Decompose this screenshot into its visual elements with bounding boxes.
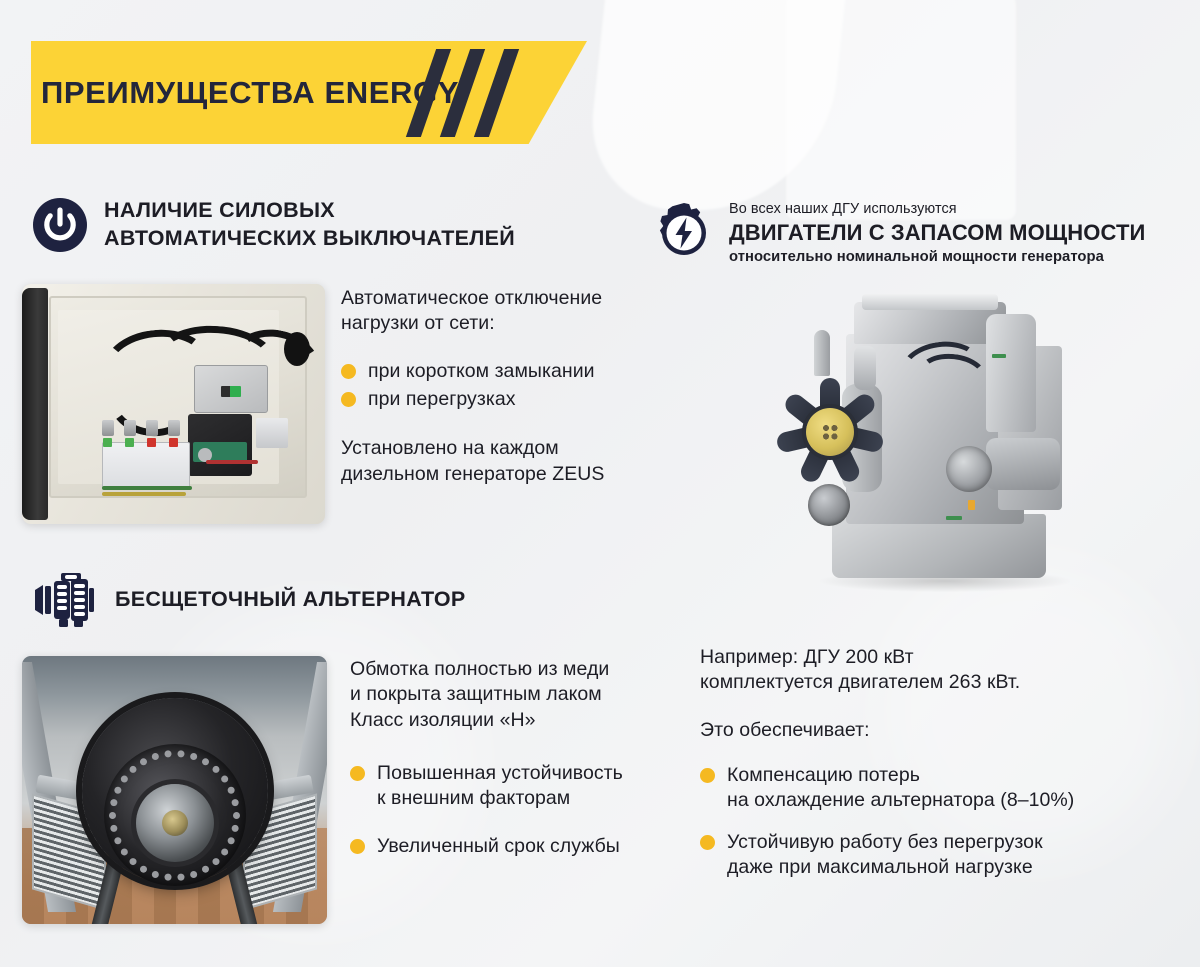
- rotor-stud: [140, 865, 147, 872]
- alternator-text-block: Обмотка полностью из меди и покрыта защи…: [350, 657, 670, 881]
- rotor-stud: [121, 775, 128, 782]
- bullet-text: при перегрузках: [368, 387, 516, 412]
- rotor-stud: [130, 765, 137, 772]
- indicator-green-2: [125, 438, 134, 447]
- breakers-paragraph-2: Установлено на каждом дизельном генерато…: [341, 436, 671, 487]
- rotor-stud: [190, 870, 197, 877]
- indicator-red-2: [169, 438, 178, 447]
- terminal-4: [168, 420, 180, 436]
- wire-red: [206, 460, 258, 464]
- power-button-icon: [33, 198, 87, 252]
- list-item: при коротком замыкании: [341, 359, 671, 384]
- banner-diagonal-stripes: [415, 49, 535, 137]
- section-title-alternator: БЕСЩЕТОЧНЫЙ АЛЬТЕРНАТОР: [115, 586, 466, 614]
- engine-crank-pulley: [808, 484, 850, 526]
- engine-bullet-list: Компенсацию потерь на охлаждение альтерн…: [700, 763, 1170, 880]
- gear-lightning-icon: [653, 202, 715, 264]
- alternator-bullet-list: Повышенная устойчивость к внешним фактор…: [350, 761, 670, 859]
- rotor-stud: [165, 750, 172, 757]
- engine-starter-motor: [986, 438, 1060, 490]
- list-item: Увеличенный срок службы: [350, 834, 670, 859]
- cable-grommet: [284, 332, 310, 366]
- engine-lifting-bracket: [814, 330, 830, 376]
- rotor-stud: [110, 824, 117, 831]
- diesel-engine-photo: [750, 288, 1145, 598]
- rotor-hub: [136, 784, 214, 862]
- bullet-text: Компенсацию потерь на охлаждение альтерн…: [727, 763, 1074, 814]
- terminal-1: [102, 420, 114, 436]
- electrical-panel-photo: [22, 284, 325, 524]
- bullet-text: Устойчивую работу без перегрузок даже пр…: [727, 830, 1043, 881]
- terminal-3: [146, 420, 158, 436]
- rotor-stud: [165, 873, 172, 880]
- bullet-dot-icon: [700, 768, 715, 783]
- list-item: Повышенная устойчивость к внешним фактор…: [350, 761, 670, 812]
- fan-hub: [806, 408, 854, 456]
- list-item: при перегрузках: [341, 387, 671, 412]
- terminal-2: [124, 420, 136, 436]
- rotor-stud: [109, 812, 116, 819]
- din-rail-terminals: [256, 418, 288, 448]
- breakers-paragraph-1: Автоматическое отключение нагрузки от се…: [341, 286, 671, 337]
- rotor-stud: [110, 799, 117, 806]
- bullet-dot-icon: [350, 766, 365, 781]
- engine-paragraph-1: Например: ДГУ 200 кВт комплектуется двиг…: [700, 645, 1170, 696]
- rotor-stud: [232, 824, 239, 831]
- brushless-alternator-photo: [22, 656, 327, 924]
- rotor-stud: [212, 765, 219, 772]
- engine-kicker: Во всех наших ДГУ используются: [729, 200, 1145, 218]
- bullet-text: при коротком замыкании: [368, 359, 595, 384]
- engine-paragraph-2: Это обеспечивает:: [700, 718, 1170, 743]
- section-heading-breakers: НАЛИЧИЕ СИЛОВЫХ АВТОМАТИЧЕСКИХ ВЫКЛЮЧАТЕ…: [33, 197, 515, 252]
- rotor-stud: [228, 837, 235, 844]
- indicator-red-1: [147, 438, 156, 447]
- bullet-text: Увеличенный срок службы: [377, 834, 620, 859]
- rotor-stud: [190, 753, 197, 760]
- engine-green-marker-2: [946, 516, 962, 520]
- rotor-stud: [140, 758, 147, 765]
- list-item: Компенсацию потерь на охлаждение альтерн…: [700, 763, 1170, 814]
- controller-module: [188, 414, 252, 476]
- header-banner: ПРЕИМУЩЕСТВА ENERGY: [31, 41, 587, 144]
- section-title-breakers: НАЛИЧИЕ СИЛОВЫХ АВТОМАТИЧЕСКИХ ВЫКЛЮЧАТЕ…: [104, 197, 515, 252]
- indicator-green-1: [103, 438, 112, 447]
- rotor-stud: [228, 786, 235, 793]
- section-heading-engine: Во всех наших ДГУ используются ДВИГАТЕЛИ…: [653, 200, 1145, 266]
- rotor-stud: [114, 786, 121, 793]
- engine-cooling-fan: [778, 380, 882, 484]
- engine-heading-text: Во всех наших ДГУ используются ДВИГАТЕЛИ…: [729, 200, 1145, 266]
- rotor-stud: [114, 837, 121, 844]
- bullet-dot-icon: [700, 835, 715, 850]
- rotor-stud: [121, 848, 128, 855]
- panel-backplate: [58, 310, 279, 484]
- rotor-stud: [202, 865, 209, 872]
- alternator-paragraph-1: Обмотка полностью из меди и покрыта защи…: [350, 657, 670, 733]
- rotor-stud: [233, 812, 240, 819]
- bullet-dot-icon: [341, 392, 356, 407]
- rotor-stud: [152, 870, 159, 877]
- background-blob-left: [583, 0, 849, 210]
- page-title: ПРЕИМУЩЕСТВА ENERGY: [41, 75, 459, 111]
- list-item: Устойчивую работу без перегрузок даже пр…: [700, 830, 1170, 881]
- main-circuit-breaker: [194, 365, 268, 413]
- alternator-icon: [33, 572, 95, 628]
- engine-orange-marker: [968, 500, 975, 510]
- engine-subtitle: относительно номинальной мощности генера…: [729, 248, 1145, 266]
- breakers-bullet-list: при коротком замыкании при перегрузках: [341, 359, 671, 413]
- transfer-switch-body: [102, 442, 190, 488]
- rotor-stud: [232, 799, 239, 806]
- breakers-text-block: Автоматическое отключение нагрузки от се…: [341, 286, 671, 487]
- panel-door: [22, 288, 48, 520]
- engine-oil-filter-housing: [986, 314, 1036, 432]
- engine-green-marker-1: [992, 354, 1006, 358]
- engine-title: ДВИГАТЕЛИ С ЗАПАСОМ МОЩНОСТИ: [729, 220, 1145, 247]
- engine-top-rail: [862, 294, 998, 310]
- stripe-3: [474, 49, 519, 137]
- rotor-stud: [221, 848, 228, 855]
- engine-alternator-pulley: [946, 446, 992, 492]
- rotor-stud: [221, 775, 228, 782]
- rotor-stud: [212, 858, 219, 865]
- engine-text-block: Например: ДГУ 200 кВт комплектуется двиг…: [700, 645, 1170, 896]
- wire-green: [102, 486, 192, 490]
- section-heading-alternator: БЕСЩЕТОЧНЫЙ АЛЬТЕРНАТОР: [33, 572, 466, 628]
- rotor-stud: [177, 750, 184, 757]
- bullet-text: Повышенная устойчивость к внешним фактор…: [377, 761, 623, 812]
- background-blob-right: [786, 0, 1016, 220]
- bullet-dot-icon: [350, 839, 365, 854]
- rotor-stud: [202, 758, 209, 765]
- wire-yellow: [102, 492, 186, 496]
- bullet-dot-icon: [341, 364, 356, 379]
- rotor-stud: [177, 873, 184, 880]
- infographic-page: ПРЕИМУЩЕСТВА ENERGY НАЛИЧИЕ СИЛОВЫХ АВТО…: [0, 0, 1200, 967]
- rotor-stud: [152, 753, 159, 760]
- rotor-stud: [130, 858, 137, 865]
